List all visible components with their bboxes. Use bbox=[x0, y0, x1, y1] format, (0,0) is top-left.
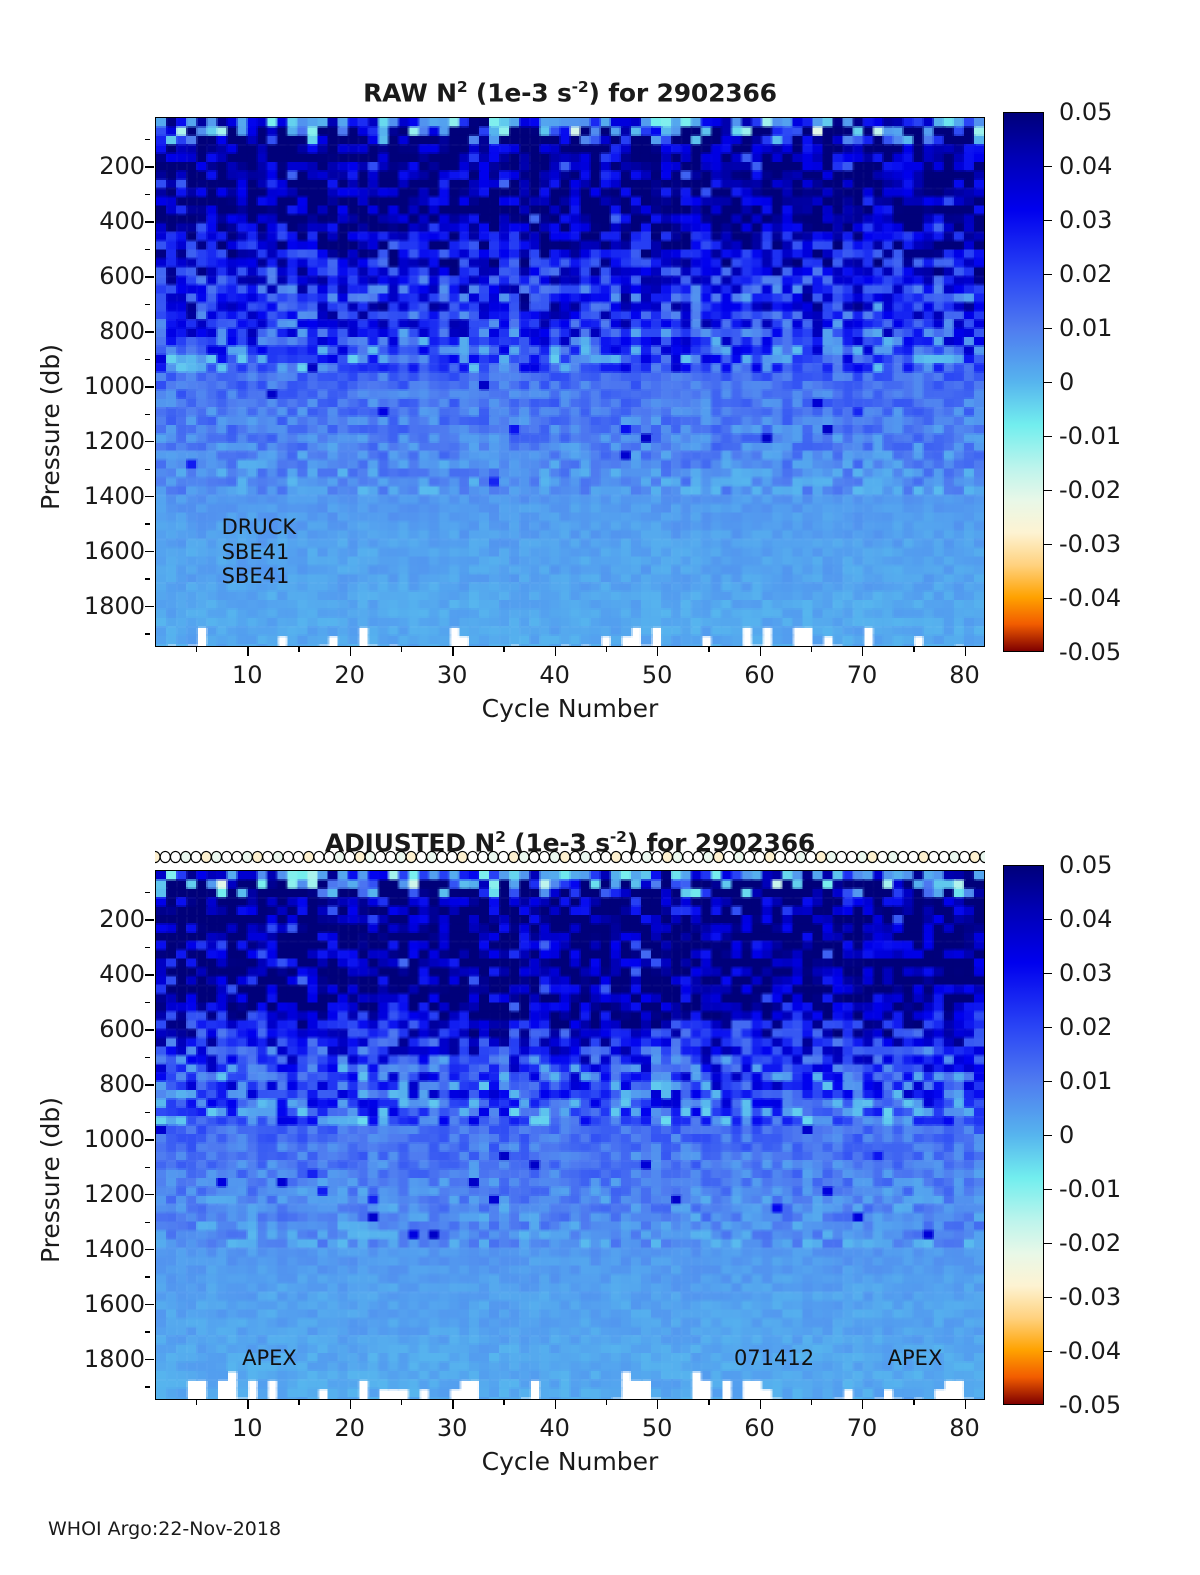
y-axis-tick-label: 400 bbox=[55, 207, 145, 235]
colorbar-tick bbox=[1044, 490, 1052, 491]
x-axis-tick-mark bbox=[350, 1400, 351, 1409]
colorbar-tick bbox=[1044, 919, 1052, 920]
y-axis-minor-tick bbox=[145, 1386, 150, 1387]
x-axis-minor-tick bbox=[298, 647, 299, 652]
x-axis-tick-mark bbox=[555, 1400, 556, 1409]
x-axis-minor-tick bbox=[196, 647, 197, 652]
colorbar-tick bbox=[1044, 328, 1052, 329]
y-axis-tick-mark bbox=[145, 496, 154, 497]
plot-title-adjusted-suffix: ) for 2902366 bbox=[627, 828, 815, 857]
y-axis-tick-label: 600 bbox=[55, 262, 145, 290]
colorbar-tick bbox=[1044, 1351, 1052, 1352]
y-axis-tick-label: 800 bbox=[55, 317, 145, 345]
plot-title-adjusted-prefix: ADJUSTED N bbox=[325, 828, 495, 857]
x-axis-label-adjusted: Cycle Number bbox=[155, 1447, 985, 1476]
colorbar-tick-label: 0.03 bbox=[1059, 206, 1112, 234]
colorbar-tick-label: 0.05 bbox=[1059, 98, 1112, 126]
x-axis-tick-mark bbox=[862, 1400, 863, 1409]
x-axis-ticks-raw: 1020304050607080 bbox=[155, 647, 985, 687]
colorbar-tick bbox=[1044, 382, 1052, 383]
plot-title-raw-suffix: ) for 2902366 bbox=[588, 78, 776, 107]
y-axis-tick-label: 1600 bbox=[55, 537, 145, 565]
x-axis-tick-label: 60 bbox=[720, 1414, 800, 1442]
x-axis-tick-mark bbox=[350, 647, 351, 656]
y-axis-tick-mark bbox=[145, 1139, 154, 1140]
y-axis-minor-tick bbox=[145, 1331, 150, 1332]
x-axis-minor-tick bbox=[811, 1400, 812, 1405]
y-axis-tick-mark bbox=[145, 331, 154, 332]
x-axis-tick-label: 70 bbox=[822, 661, 902, 689]
colorbar-adjusted: 0.050.040.030.020.010-0.01-0.02-0.03-0.0… bbox=[1003, 865, 1193, 1405]
y-axis-minor-tick bbox=[145, 1222, 150, 1223]
colorbar-tick-label: 0.01 bbox=[1059, 1067, 1112, 1095]
x-axis-ticks-adjusted: 1020304050607080 bbox=[155, 1400, 985, 1440]
y-axis-ticks-raw: 20040060080010001200140016001800 bbox=[45, 117, 145, 647]
y-axis-tick-mark bbox=[145, 551, 154, 552]
colorbar-tick-label: -0.03 bbox=[1059, 1283, 1121, 1311]
x-axis-tick-label: 30 bbox=[412, 661, 492, 689]
colorbar-tick-label: -0.02 bbox=[1059, 476, 1121, 504]
colorbar-tick bbox=[1044, 598, 1052, 599]
colorbar-tick bbox=[1044, 166, 1052, 167]
colorbar-tick bbox=[1044, 1027, 1052, 1028]
colorbar-tick-label: 0.05 bbox=[1059, 851, 1112, 879]
y-axis-tick-label: 200 bbox=[55, 152, 145, 180]
y-axis-tick-label: 1200 bbox=[55, 1180, 145, 1208]
y-axis-minor-tick bbox=[145, 1112, 150, 1113]
x-axis-minor-tick bbox=[708, 1400, 709, 1405]
colorbar-tick-label: 0.02 bbox=[1059, 1013, 1112, 1041]
colorbar-tick-label: -0.01 bbox=[1059, 422, 1121, 450]
colorbar-tick bbox=[1044, 1243, 1052, 1244]
colorbar-tick bbox=[1044, 973, 1052, 974]
y-axis-minor-tick bbox=[145, 249, 150, 250]
y-axis-tick-mark bbox=[145, 1194, 154, 1195]
colorbar-tick-label: -0.05 bbox=[1059, 1391, 1121, 1419]
x-axis-tick-label: 30 bbox=[412, 1414, 492, 1442]
y-axis-tick-mark bbox=[145, 276, 154, 277]
colorbar-tick bbox=[1044, 436, 1052, 437]
y-axis-tick-mark bbox=[145, 1249, 154, 1250]
y-axis-minor-tick bbox=[145, 947, 150, 948]
colorbar-raw: 0.050.040.030.020.010-0.01-0.02-0.03-0.0… bbox=[1003, 112, 1193, 652]
colorbar-tick bbox=[1044, 1135, 1052, 1136]
panel-raw: RAW N2 (1e-3 s-2) for 2902366 Pressure (… bbox=[0, 0, 1200, 790]
plot-title-raw: RAW N2 (1e-3 s-2) for 2902366 bbox=[155, 78, 985, 107]
y-axis-tick-label: 1800 bbox=[55, 592, 145, 620]
colorbar-tick-label: -0.04 bbox=[1059, 1337, 1121, 1365]
plot-annotation: APEX bbox=[242, 1346, 297, 1370]
y-axis-tick-mark bbox=[145, 1359, 154, 1360]
y-axis-tick-label: 800 bbox=[55, 1070, 145, 1098]
y-axis-tick-mark bbox=[145, 1084, 154, 1085]
x-axis-tick-label: 80 bbox=[925, 661, 1005, 689]
y-axis-tick-mark bbox=[145, 221, 154, 222]
y-axis-tick-mark bbox=[145, 386, 154, 387]
y-axis-minor-tick bbox=[145, 892, 150, 893]
x-axis-tick-mark bbox=[452, 647, 453, 656]
x-axis-tick-label: 20 bbox=[310, 661, 390, 689]
plot-title-raw-prefix: RAW N bbox=[363, 78, 457, 107]
x-axis-tick-mark bbox=[760, 1400, 761, 1409]
x-axis-minor-tick bbox=[606, 1400, 607, 1405]
x-axis-tick-label: 10 bbox=[207, 661, 287, 689]
x-axis-minor-tick bbox=[196, 1400, 197, 1405]
panel-adjusted: ADJUSTED N2 (1e-3 s-2) for 2902366 Press… bbox=[0, 720, 1200, 1510]
x-axis-tick-label: 20 bbox=[310, 1414, 390, 1442]
y-axis-tick-mark bbox=[145, 1304, 154, 1305]
y-axis-minor-tick bbox=[145, 469, 150, 470]
plot-title-raw-mid: (1e-3 s bbox=[467, 78, 571, 107]
x-axis-tick-label: 70 bbox=[822, 1414, 902, 1442]
colorbar-tick-label: -0.03 bbox=[1059, 530, 1121, 558]
heatmap-axes-adjusted[interactable] bbox=[155, 870, 985, 1400]
plot-title-adjusted: ADJUSTED N2 (1e-3 s-2) for 2902366 bbox=[155, 828, 985, 857]
plot-annotation: APEX bbox=[888, 1346, 943, 1370]
plot-annotation: DRUCK bbox=[222, 515, 297, 539]
plot-annotation: 071412 bbox=[734, 1346, 814, 1370]
x-axis-tick-label: 40 bbox=[515, 1414, 595, 1442]
x-axis-minor-tick bbox=[503, 647, 504, 652]
y-axis-tick-label: 1800 bbox=[55, 1345, 145, 1373]
colorbar-tick-label: -0.02 bbox=[1059, 1229, 1121, 1257]
colorbar-gradient-adjusted bbox=[1003, 865, 1044, 1405]
y-axis-tick-label: 1000 bbox=[55, 372, 145, 400]
y-axis-minor-tick bbox=[145, 633, 150, 634]
x-axis-minor-tick bbox=[503, 1400, 504, 1405]
colorbar-tick bbox=[1044, 1297, 1052, 1298]
colorbar-tick-label: -0.01 bbox=[1059, 1175, 1121, 1203]
x-axis-tick-label: 50 bbox=[617, 661, 697, 689]
y-axis-tick-label: 1400 bbox=[55, 1235, 145, 1263]
x-axis-tick-label: 60 bbox=[720, 661, 800, 689]
colorbar-tick-label: 0.02 bbox=[1059, 260, 1112, 288]
x-axis-minor-tick bbox=[913, 647, 914, 652]
colorbar-tick bbox=[1044, 544, 1052, 545]
x-axis-tick-mark bbox=[247, 1400, 248, 1409]
x-axis-tick-mark bbox=[965, 647, 966, 656]
x-axis-tick-mark bbox=[452, 1400, 453, 1409]
x-axis-minor-tick bbox=[913, 1400, 914, 1405]
x-axis-minor-tick bbox=[708, 647, 709, 652]
y-axis-tick-label: 1200 bbox=[55, 427, 145, 455]
y-axis-minor-tick bbox=[145, 1057, 150, 1058]
x-axis-tick-label: 40 bbox=[515, 661, 595, 689]
colorbar-tick-label: 0.04 bbox=[1059, 905, 1112, 933]
plot-title-adjusted-sup-minus2: -2 bbox=[610, 828, 627, 846]
x-axis-tick-mark bbox=[247, 647, 248, 656]
y-axis-tick-mark bbox=[145, 606, 154, 607]
footer-credit: WHOI Argo:22-Nov-2018 bbox=[48, 1518, 281, 1540]
x-axis-tick-mark bbox=[965, 1400, 966, 1409]
colorbar-tick-label: -0.05 bbox=[1059, 638, 1121, 666]
colorbar-tick bbox=[1044, 1189, 1052, 1190]
x-axis-label-raw: Cycle Number bbox=[155, 694, 985, 723]
plot-title-adjusted-mid: (1e-3 s bbox=[506, 828, 610, 857]
y-axis-minor-tick bbox=[145, 194, 150, 195]
y-axis-tick-mark bbox=[145, 441, 154, 442]
x-axis-minor-tick bbox=[401, 1400, 402, 1405]
colorbar-tick-label: 0.01 bbox=[1059, 314, 1112, 342]
x-axis-minor-tick bbox=[401, 647, 402, 652]
x-axis-tick-label: 10 bbox=[207, 1414, 287, 1442]
plot-annotation: SBE41 bbox=[222, 564, 290, 588]
colorbar-tick-label: 0.03 bbox=[1059, 959, 1112, 987]
y-axis-minor-tick bbox=[145, 1002, 150, 1003]
y-axis-minor-tick bbox=[145, 139, 150, 140]
y-axis-ticks-adjusted: 20040060080010001200140016001800 bbox=[45, 870, 145, 1400]
colorbar-tick-label: 0.04 bbox=[1059, 152, 1112, 180]
y-axis-minor-tick bbox=[145, 1167, 150, 1168]
x-axis-tick-mark bbox=[657, 1400, 658, 1409]
plot-title-raw-sup-2: 2 bbox=[457, 78, 468, 96]
y-axis-minor-tick bbox=[145, 359, 150, 360]
y-axis-minor-tick bbox=[145, 414, 150, 415]
colorbar-gradient-raw bbox=[1003, 112, 1044, 652]
y-axis-minor-tick bbox=[145, 1276, 150, 1277]
x-axis-minor-tick bbox=[298, 1400, 299, 1405]
colorbar-tick bbox=[1044, 220, 1052, 221]
y-axis-minor-tick bbox=[145, 523, 150, 524]
x-axis-tick-label: 50 bbox=[617, 1414, 697, 1442]
heatmap-canvas-adjusted bbox=[156, 871, 984, 1399]
y-axis-tick-mark bbox=[145, 974, 154, 975]
y-axis-minor-tick bbox=[145, 304, 150, 305]
plot-title-adjusted-sup-2: 2 bbox=[495, 828, 506, 846]
y-axis-tick-mark bbox=[145, 166, 154, 167]
y-axis-tick-label: 200 bbox=[55, 905, 145, 933]
y-axis-tick-label: 1000 bbox=[55, 1125, 145, 1153]
y-axis-tick-label: 400 bbox=[55, 960, 145, 988]
y-axis-tick-label: 600 bbox=[55, 1015, 145, 1043]
y-axis-tick-label: 1600 bbox=[55, 1290, 145, 1318]
y-axis-tick-mark bbox=[145, 1029, 154, 1030]
colorbar-tick bbox=[1044, 1081, 1052, 1082]
colorbar-tick-label: 0 bbox=[1059, 1121, 1074, 1149]
x-axis-tick-mark bbox=[555, 647, 556, 656]
x-axis-minor-tick bbox=[811, 647, 812, 652]
colorbar-tick bbox=[1044, 274, 1052, 275]
y-axis-minor-tick bbox=[145, 578, 150, 579]
x-axis-tick-label: 80 bbox=[925, 1414, 1005, 1442]
colorbar-tick-label: 0 bbox=[1059, 368, 1074, 396]
x-axis-tick-mark bbox=[657, 647, 658, 656]
plot-title-raw-sup-minus2: -2 bbox=[572, 78, 589, 96]
x-axis-tick-mark bbox=[760, 647, 761, 656]
x-axis-minor-tick bbox=[606, 647, 607, 652]
x-axis-tick-mark bbox=[862, 647, 863, 656]
y-axis-tick-label: 1400 bbox=[55, 482, 145, 510]
plot-annotation: SBE41 bbox=[222, 540, 290, 564]
y-axis-tick-mark bbox=[145, 919, 154, 920]
colorbar-tick-label: -0.04 bbox=[1059, 584, 1121, 612]
